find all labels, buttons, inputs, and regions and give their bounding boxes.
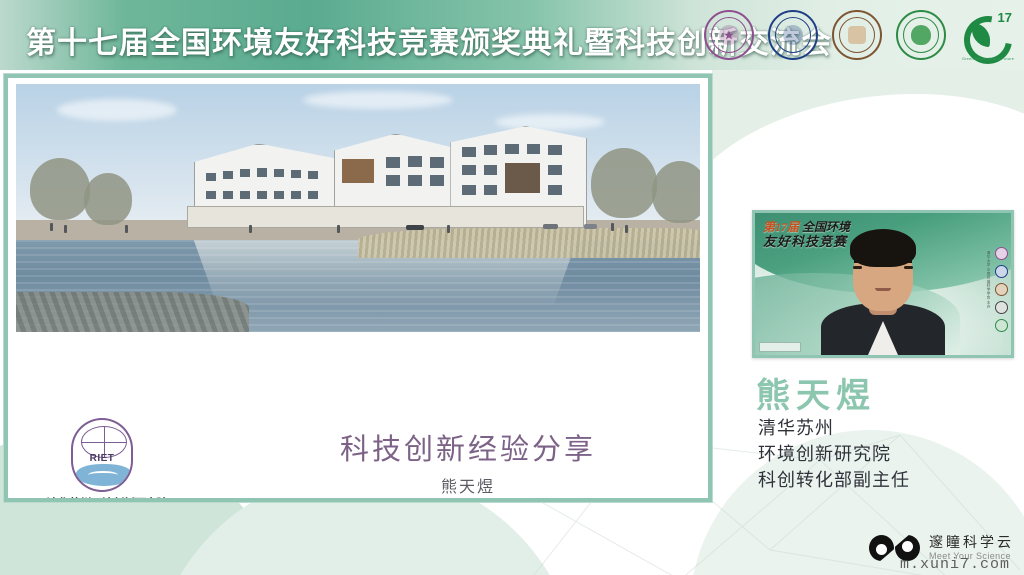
background-wave-decor — [712, 70, 1024, 210]
affiliation-line-3: 科创转化部副主任 — [758, 467, 910, 493]
riet-acronym: RIET — [73, 453, 131, 464]
slide-presenter: 熊天煜 — [308, 473, 628, 497]
video-backdrop-side-text: 清华大学 中国环境科学学会 主办 — [975, 251, 991, 337]
riet-institute-logo: RIET 清华苏州环境创新研究院 RESEARCH INSTITUTE FOR … — [44, 418, 160, 498]
institute-seal-logo — [832, 10, 882, 60]
slide-title: 科技创新经验分享 — [308, 426, 628, 468]
event-header-banner: 第十七届全国环境友好科技竞赛颁奖典礼暨科技创新交流会 ★ 17 Green Wo… — [0, 0, 1024, 70]
slide-stage: 第十七届全国环境友好科技竞赛颁奖典礼暨科技创新交流会 ★ 17 Green Wo… — [0, 0, 1024, 575]
tsinghua-seal-logo: ★ — [704, 10, 754, 60]
backdrop-seal-purple — [995, 247, 1008, 260]
affiliation-line-1: 清华苏州 — [758, 415, 910, 441]
backdrop-seal-green — [995, 319, 1008, 332]
leaf-logo-caption: Green World Green Future — [960, 56, 1016, 61]
green-leaf-17-logo: 17 Green World Green Future — [960, 10, 1016, 60]
building-photo — [16, 84, 700, 332]
reed-bank — [358, 228, 700, 258]
site-watermark: m.xuni7.com — [900, 556, 1010, 573]
brand-name-cn: 邃瞳科学云 — [929, 535, 1014, 550]
speaker-portrait — [819, 243, 947, 355]
ches-society-logo — [896, 10, 946, 60]
affiliation-line-2: 环境创新研究院 — [758, 441, 910, 467]
video-corner-tag — [759, 342, 801, 352]
building-ground-floor — [187, 206, 584, 228]
backdrop-seal-blue — [995, 265, 1008, 278]
water-icon — [76, 464, 132, 486]
rock-bank — [16, 292, 249, 332]
speaker-video-tile[interactable]: 第17届 全国环境 友好科技竞赛 清华大学 中国环境科学学会 主办 — [752, 210, 1014, 358]
backdrop-edition: 第17届 — [763, 220, 799, 234]
riet-chinese-name: 清华苏州环境创新研究院 — [44, 495, 160, 498]
backdrop-seal-brown — [995, 283, 1008, 296]
university-seal-logo — [768, 10, 818, 60]
organizer-logo-row: ★ 17 Green World Green Future — [704, 6, 1016, 64]
backdrop-seal-gray — [995, 301, 1008, 314]
video-backdrop-seal-row — [995, 247, 1008, 332]
presentation-slide[interactable]: RIET 清华苏州环境创新研究院 RESEARCH INSTITUTE FOR … — [4, 74, 712, 502]
speaker-name: 熊天煜 — [756, 368, 876, 417]
seal-star-icon: ★ — [723, 29, 735, 42]
edition-number: 17 — [998, 10, 1012, 25]
speaker-affiliation: 清华苏州 环境创新研究院 科创转化部副主任 — [758, 415, 910, 493]
